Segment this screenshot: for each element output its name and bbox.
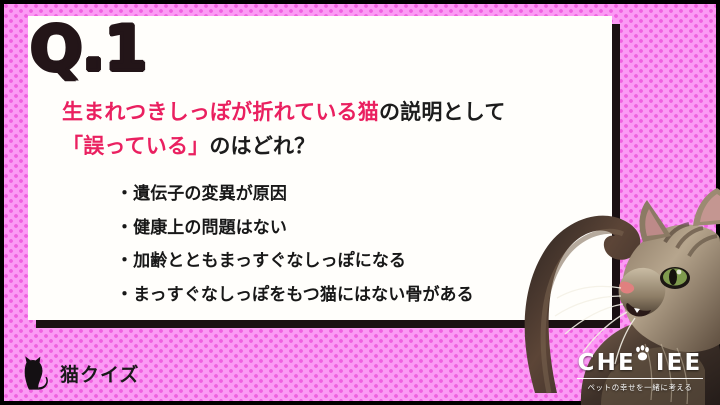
- choice-bullet: ・: [116, 285, 133, 304]
- choice-bullet: ・: [116, 251, 133, 270]
- question-line-2-rest: のはどれ？: [209, 135, 315, 158]
- choice-item[interactable]: ・まっすぐなしっぽをもつ猫にはない骨がある: [116, 278, 474, 312]
- answer-choices: ・遺伝子の変異が原因 ・健康上の問題はない ・加齢とともまっすぐなしっぽになる …: [116, 177, 474, 312]
- choice-item[interactable]: ・遺伝子の変異が原因: [116, 177, 474, 211]
- choice-item[interactable]: ・加齢とともまっすぐなしっぽになる: [116, 244, 474, 278]
- choice-bullet: ・: [116, 218, 133, 237]
- brand-logo[interactable]: CHERIEE ペットの幸せを一緒に考える: [574, 352, 706, 394]
- cat-silhouette-icon: [18, 355, 52, 391]
- brand-tagline: ペットの幸せを一緒に考える: [574, 382, 706, 393]
- choice-label: 遺伝子の変異が原因: [133, 184, 287, 203]
- quiz-slide: Q.1 生まれつきしっぽが折れている猫の説明として 「誤っている」のはどれ？ ・…: [0, 0, 720, 405]
- question-line-2: 「誤っている」のはどれ？: [62, 130, 582, 164]
- question-number: Q.1: [30, 18, 146, 80]
- brand-name-left: CHE: [578, 350, 636, 376]
- cat-paw-icon: [634, 345, 651, 362]
- footer-label: 猫クイズ: [60, 360, 139, 387]
- question-line-2-highlight: 「誤っている」: [62, 135, 209, 158]
- choice-item[interactable]: ・健康上の問題はない: [116, 211, 474, 245]
- question-line-1-highlight: 生まれつきしっぽが折れている猫: [62, 101, 379, 124]
- question-line-1-rest: の説明として: [379, 101, 506, 124]
- choice-label: 健康上の問題はない: [133, 218, 287, 237]
- question-line-1: 生まれつきしっぽが折れている猫の説明として: [62, 96, 582, 130]
- choice-bullet: ・: [116, 184, 133, 203]
- choice-label: まっすぐなしっぽをもつ猫にはない骨がある: [133, 285, 474, 304]
- brand-divider: [577, 378, 703, 380]
- question-text: 生まれつきしっぽが折れている猫の説明として 「誤っている」のはどれ？: [62, 96, 582, 164]
- brand-name-right: IEE: [656, 350, 703, 376]
- brand-name: CHERIEE: [574, 352, 706, 375]
- footer-bar: 猫クイズ: [18, 353, 139, 393]
- choice-label: 加齢とともまっすぐなしっぽになる: [133, 251, 406, 270]
